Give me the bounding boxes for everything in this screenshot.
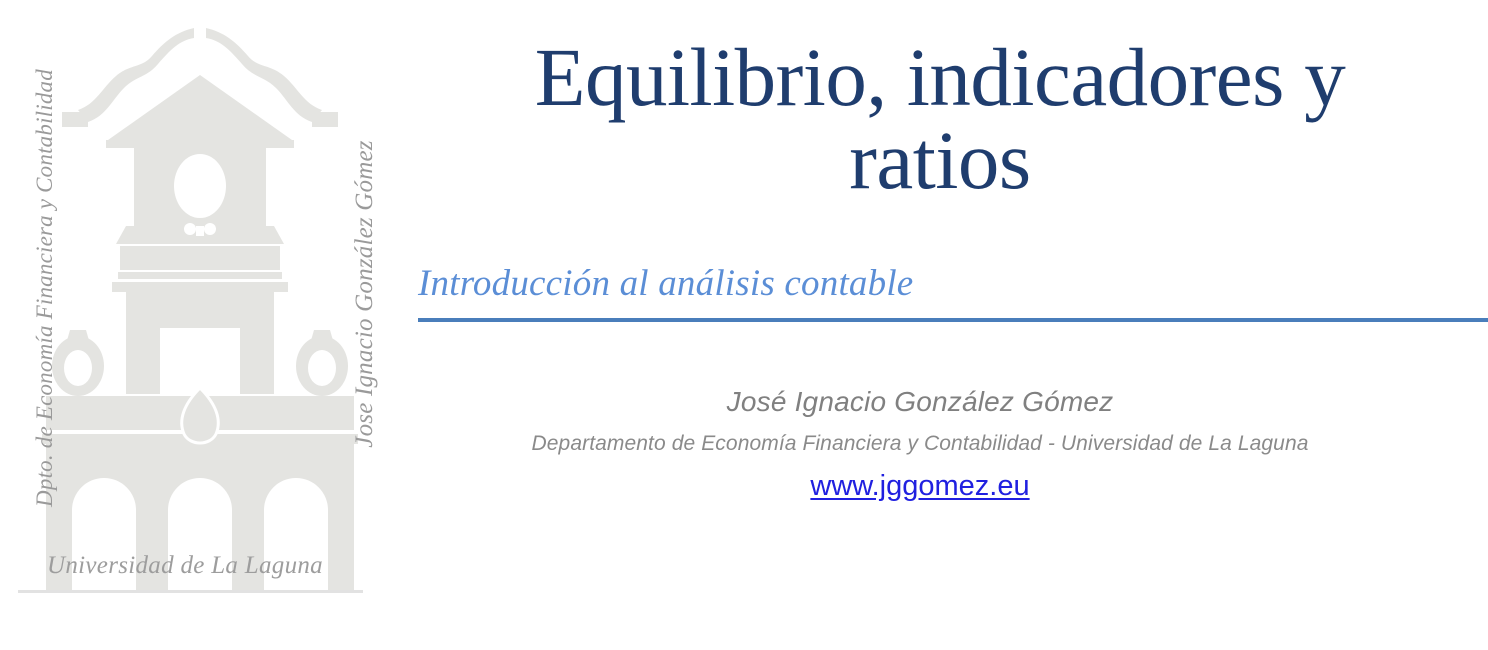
title-slide: Dpto. de Economía Financiera y Contabili… bbox=[0, 0, 1488, 650]
logo-vertical-text-department: Dpto. de Economía Financiera y Contabili… bbox=[32, 8, 58, 568]
logo-university-name: Universidad de La Laguna bbox=[0, 552, 370, 580]
title-divider-rule bbox=[418, 318, 1488, 322]
logo-underline-rule bbox=[18, 590, 363, 593]
author-name: José Ignacio González Gómez bbox=[410, 386, 1430, 418]
logo-vertical-text-author: Jose Ignacio González Gómez bbox=[351, 14, 379, 574]
author-website-link[interactable]: www.jggomez.eu bbox=[810, 470, 1029, 502]
page-title: Equilibrio, indicadores y ratios bbox=[410, 36, 1470, 202]
author-website-container: www.jggomez.eu bbox=[410, 470, 1430, 503]
university-tower-aqueduct-logo-icon bbox=[0, 0, 400, 620]
page-subtitle: Introducción al análisis contable bbox=[418, 262, 1488, 305]
page-title-line-2: ratios bbox=[410, 119, 1470, 202]
author-affiliation: Departamento de Economía Financiera y Co… bbox=[410, 432, 1430, 456]
university-logo-block: Dpto. de Economía Financiera y Contabili… bbox=[0, 0, 400, 620]
slide-content: Equilibrio, indicadores y ratios Introdu… bbox=[410, 0, 1488, 650]
page-title-line-1: Equilibrio, indicadores y bbox=[410, 36, 1470, 119]
